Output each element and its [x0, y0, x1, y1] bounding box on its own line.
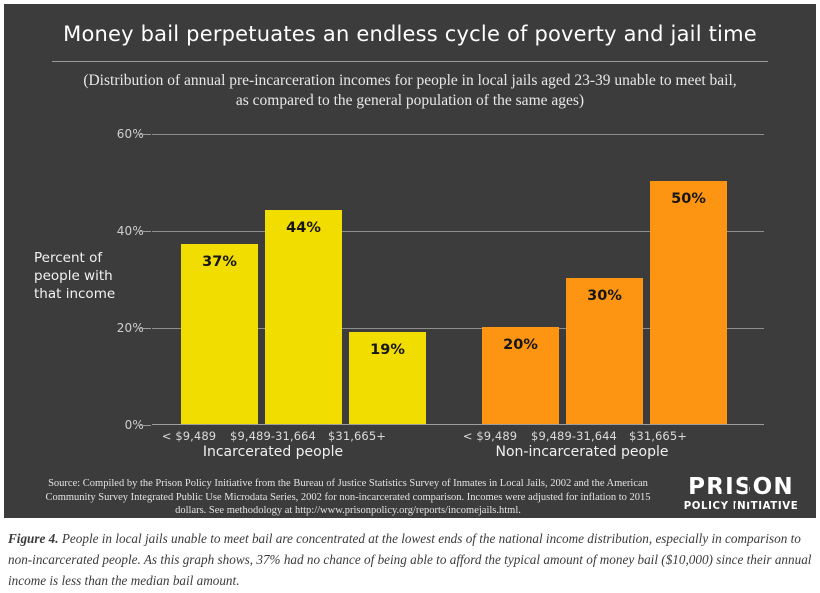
figure-caption: Figure 4. People in local jails unable t… — [8, 528, 812, 591]
x-category-label-incarcerated-3: $31,665+ — [309, 429, 405, 443]
x-category-label-nonincarcerated-1: < $9,489 — [442, 429, 538, 443]
bar-incarcerated-under-9489[interactable]: 37% — [181, 244, 258, 424]
x-group-label-incarcerated: Incarcerated people — [173, 444, 373, 460]
bar-nonincarcerated-under-9489[interactable]: 20% — [482, 327, 559, 424]
y-axis-title-line-3: that income — [34, 285, 142, 303]
bar-value-label: 37% — [181, 254, 258, 270]
x-category-label-incarcerated-2: $9,489-31,664 — [225, 429, 321, 443]
bar-incarcerated-31665-plus[interactable]: 19% — [349, 332, 426, 424]
figure-caption-label: Figure 4. — [8, 531, 59, 546]
bar-value-label: 44% — [265, 220, 342, 236]
source-note: Source: Compiled by the Prison Policy In… — [32, 477, 664, 518]
bar-value-label: 50% — [650, 191, 727, 207]
bar-value-label: 19% — [349, 342, 426, 358]
x-category-label-incarcerated-1: < $9,489 — [141, 429, 237, 443]
y-tick-mark-40 — [137, 231, 151, 232]
bar-incarcerated-9489-31664[interactable]: 44% — [265, 210, 342, 424]
prison-policy-initiative-logo: PRISON POLICY INITIATIVE — [680, 475, 802, 517]
bar-value-label: 30% — [566, 288, 643, 304]
title-divider — [52, 61, 768, 62]
chart-subtitle-line-2: as compared to the general population of… — [60, 91, 760, 111]
y-axis-title: Percent of people with that income — [34, 249, 142, 303]
y-axis-title-line-1: Percent of — [34, 249, 142, 267]
bar-nonincarcerated-31665-plus[interactable]: 50% — [650, 181, 727, 424]
y-axis-title-line-2: people with — [34, 267, 142, 285]
logo-wordmark-bottom: POLICY INITIATIVE — [680, 500, 802, 513]
chart-panel: Money bail perpetuates an endless cycle … — [4, 4, 816, 518]
figure-root: Money bail perpetuates an endless cycle … — [0, 0, 820, 593]
y-tick-mark-20 — [137, 328, 151, 329]
x-group-label-nonincarcerated: Non-incarcerated people — [474, 444, 690, 460]
gridline-60 — [152, 134, 764, 135]
y-tick-mark-60 — [137, 134, 151, 135]
logo-wordmark-top: PRISON — [680, 475, 802, 500]
gridline-0 — [152, 424, 764, 425]
y-tick-mark-0 — [137, 425, 151, 426]
x-category-label-nonincarcerated-2: $9,489-31,644 — [526, 429, 622, 443]
x-category-label-nonincarcerated-3: $31,665+ — [610, 429, 706, 443]
figure-caption-text: People in local jails unable to meet bai… — [8, 531, 811, 588]
chart-subtitle: (Distribution of annual pre-incarceratio… — [60, 71, 760, 111]
bar-nonincarcerated-9489-31644[interactable]: 30% — [566, 278, 643, 424]
chart-subtitle-line-1: (Distribution of annual pre-incarceratio… — [60, 71, 760, 91]
chart-title: Money bail perpetuates an endless cycle … — [4, 22, 816, 46]
bar-value-label: 20% — [482, 337, 559, 353]
plot-area: 37% 44% 19% 20% 30% 50% — [152, 134, 764, 425]
